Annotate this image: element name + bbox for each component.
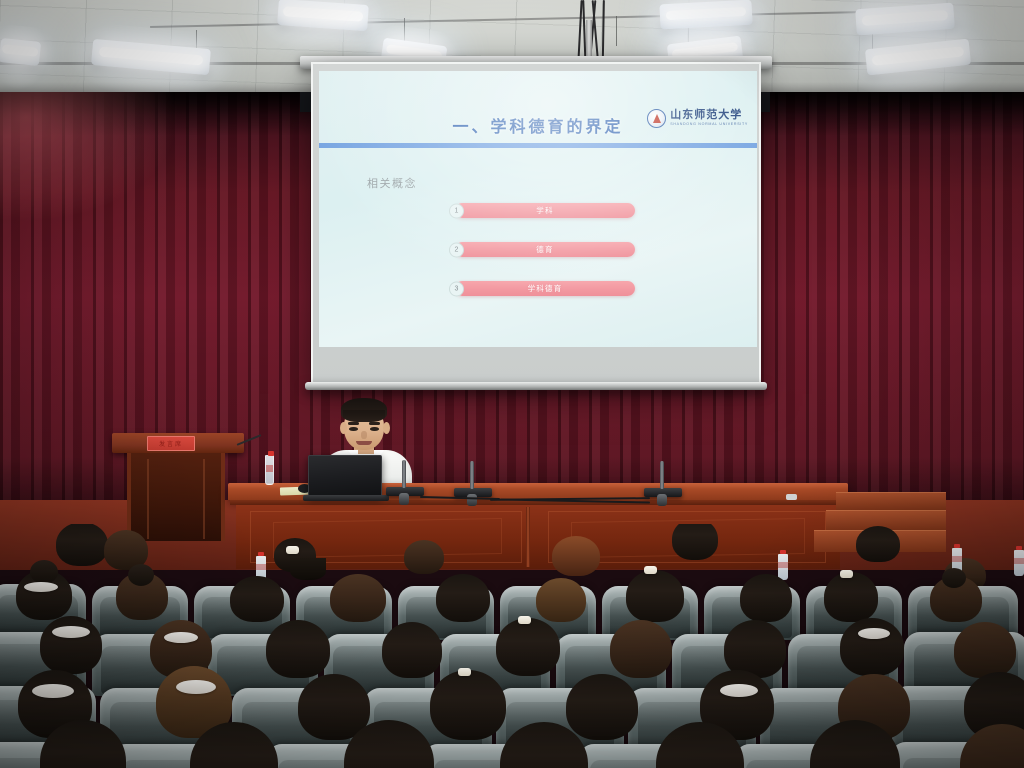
university-name-en: SHANDONG NORMAL UNIVERSITY <box>670 123 748 127</box>
audience-person <box>824 572 878 622</box>
presentation-slide: 一、学科德育的界定 山东师范大学 SHANDONG NORMAL UNIVERS… <box>319 71 757 347</box>
university-logo: 山东师范大学 SHANDONG NORMAL UNIVERSITY <box>647 109 748 128</box>
desk-microphone <box>454 488 492 497</box>
presenter-mouth <box>356 441 372 445</box>
audience-person <box>536 578 586 622</box>
audience-person <box>16 570 72 620</box>
audience-person <box>330 574 386 622</box>
presenter-nose <box>361 431 367 439</box>
university-name-cn: 山东师范大学 <box>670 110 748 121</box>
concept-pill-label: 德育 <box>536 244 553 255</box>
concept-pill: 2 德育 <box>455 242 635 257</box>
audience-person <box>40 720 126 768</box>
audience-person <box>56 524 108 566</box>
audience-person <box>930 576 982 622</box>
concept-pill-number: 1 <box>449 203 464 218</box>
presenter-ear <box>383 422 390 434</box>
presenter-eyebrow <box>348 422 359 425</box>
audience-person <box>266 620 330 678</box>
lecture-hall-photo: 一、学科德育的界定 山东师范大学 SHANDONG NORMAL UNIVERS… <box>0 0 1024 768</box>
podium-plaque: 发言席 <box>147 436 195 451</box>
presenter-eye <box>370 427 379 431</box>
concept-pill-label: 学科德育 <box>528 283 563 294</box>
audience-person <box>430 670 506 740</box>
audience-person <box>810 720 900 768</box>
audience-person <box>954 622 1016 678</box>
audience-person <box>840 618 904 676</box>
audience-person <box>290 558 326 580</box>
curtain-light-spill <box>0 92 180 222</box>
concept-pill: 3 学科德育 <box>455 281 635 296</box>
audience-person <box>610 620 672 678</box>
desk-microphone <box>386 487 424 496</box>
audience-person <box>552 536 600 576</box>
presenter-eyebrow <box>369 422 380 425</box>
concept-pill: 1 学科 <box>455 203 635 218</box>
audience-person <box>626 570 684 622</box>
water-bottle <box>265 455 274 485</box>
audience-person <box>116 572 168 620</box>
audience-person <box>672 524 718 560</box>
audience-person <box>496 618 560 676</box>
desk-small-object <box>786 494 797 500</box>
audience-person <box>500 722 588 768</box>
presenter-eye <box>349 427 358 431</box>
presenter-laptop <box>308 455 382 497</box>
audience-water-bottle <box>1014 550 1024 576</box>
audience-person <box>190 722 278 768</box>
audience-person <box>230 576 284 622</box>
concept-pill-number: 3 <box>449 281 464 296</box>
audience-area <box>0 524 1024 768</box>
audience-person <box>656 722 744 768</box>
slide-title-divider <box>319 143 757 148</box>
audience-person <box>960 724 1024 768</box>
concept-pill-label: 学科 <box>536 205 553 216</box>
ceiling-light-fixture <box>0 38 41 66</box>
concept-pill-list: 1 学科 2 德育 3 学科德育 <box>455 203 635 320</box>
audience-person <box>436 574 490 622</box>
university-crest-icon <box>647 109 666 128</box>
audience-person <box>404 540 444 574</box>
screen-weight-bar <box>305 382 767 390</box>
slide-subtitle: 相关概念 <box>367 175 417 191</box>
presenter-ear <box>340 422 347 434</box>
audience-person <box>40 616 102 674</box>
ceiling-light-fixture <box>659 0 752 29</box>
projection-screen: 一、学科德育的界定 山东师范大学 SHANDONG NORMAL UNIVERS… <box>311 62 761 384</box>
presenter-hair <box>341 398 387 422</box>
audience-person <box>740 574 792 622</box>
audience-person <box>856 526 900 562</box>
concept-pill-number: 2 <box>449 242 464 257</box>
desk-microphone <box>644 488 682 497</box>
audience-person <box>344 720 434 768</box>
